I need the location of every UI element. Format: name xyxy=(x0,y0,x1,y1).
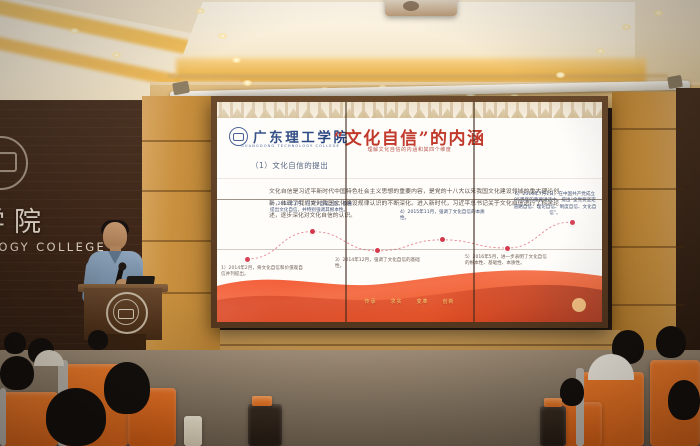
ceiling-downlight xyxy=(596,48,605,54)
lecture-hall-photo: 学院 LOGY COLLEGE 广东理工学院 GUANGDONG TECHNOL… xyxy=(0,0,700,446)
ceiling-downlight xyxy=(70,28,79,34)
wood-panel-seam xyxy=(142,140,220,142)
border-triangle xyxy=(385,107,398,118)
border-triangle xyxy=(413,107,426,118)
wood-wall-right xyxy=(612,92,684,352)
ceiling-downlight xyxy=(218,33,227,39)
timeline-path xyxy=(247,222,572,259)
timeline-point[interactable] xyxy=(375,248,380,253)
wood-panel-seam xyxy=(612,304,684,306)
wood-panel-seam xyxy=(612,246,684,248)
wood-panel-seam xyxy=(612,188,684,190)
border-triangle xyxy=(469,107,482,118)
border-triangle xyxy=(567,107,580,118)
border-triangle xyxy=(371,107,384,118)
border-triangle xyxy=(455,107,468,118)
ceiling-cove-light xyxy=(176,58,646,82)
border-triangle xyxy=(525,107,538,118)
auditorium-seat xyxy=(184,416,202,446)
border-triangle xyxy=(273,107,286,118)
roller-bracket-right xyxy=(667,75,683,89)
border-triangle xyxy=(483,107,496,118)
wood-panel-seam xyxy=(142,190,220,192)
podium-emblem-icon xyxy=(106,292,148,334)
ceiling-downlight xyxy=(622,24,631,30)
slide-divider xyxy=(217,178,602,179)
ceiling-downlight xyxy=(243,80,252,86)
timeline-annotation: 6）2016年7月1日，在中国共产党成立95周年的重要讲话中，提出“全党要坚定道… xyxy=(512,192,598,218)
border-triangle xyxy=(581,107,594,118)
auditorium-seat xyxy=(248,404,282,446)
video-wall-display: 广东理工学院 GUANGDONG TECHNOLOGY COLLEGE “文化自… xyxy=(217,102,602,322)
slide-decorative-border xyxy=(217,102,602,118)
slide-section-heading: （1）文化自信的提出 xyxy=(251,160,328,171)
projector xyxy=(385,0,457,16)
timeline-annotation: 2）2014年3月，在三个自信之后，单独提出文化自信，并特别强调其根本性。 xyxy=(270,202,356,215)
audience-head xyxy=(0,356,34,390)
auditorium-seat xyxy=(540,406,566,446)
border-triangle xyxy=(329,107,342,118)
border-triangle xyxy=(315,107,328,118)
border-triangle xyxy=(301,107,314,118)
border-triangle xyxy=(357,107,370,118)
ceiling-downlight xyxy=(654,10,663,16)
wave-label: 创新 xyxy=(443,298,455,305)
ceiling-downlight xyxy=(556,72,565,78)
audience-head xyxy=(668,380,700,420)
wood-panel-seam xyxy=(612,128,684,130)
audience-head xyxy=(46,388,106,446)
border-triangle xyxy=(511,107,524,118)
border-triangle xyxy=(245,107,258,118)
audience-head xyxy=(4,332,26,354)
slide-footer-wave xyxy=(217,260,602,322)
audience-shoulder xyxy=(0,388,6,446)
border-triangle xyxy=(217,107,230,118)
timeline-point[interactable] xyxy=(440,237,445,242)
border-triangle xyxy=(399,107,412,118)
border-triangle xyxy=(231,107,244,118)
slide-subtitle: 理解文化自信的内涵和其四个维度 xyxy=(217,146,602,153)
ceiling-downlight xyxy=(232,57,241,63)
timeline-point[interactable] xyxy=(505,246,510,251)
video-wall-bezel-v1 xyxy=(345,102,347,322)
audience-head xyxy=(560,378,584,406)
wave-label: 变革 xyxy=(417,298,429,305)
slide-wave-labels: 传承求实变革创新 xyxy=(217,298,602,305)
auditorium-seat xyxy=(544,398,562,407)
video-wall-bezel-h1 xyxy=(217,199,602,201)
wall-college-name-cn: 学院 xyxy=(0,200,50,239)
border-triangle xyxy=(259,107,272,118)
ceiling-downlight xyxy=(196,8,205,14)
wave-label: 传承 xyxy=(364,298,376,305)
slide-border-pattern xyxy=(217,107,602,118)
audience-head xyxy=(88,330,108,350)
video-wall-bezel-v2 xyxy=(473,102,475,322)
wave-label: 求实 xyxy=(390,298,402,305)
border-triangle xyxy=(539,107,552,118)
border-triangle xyxy=(287,107,300,118)
timeline-point[interactable] xyxy=(310,229,315,234)
border-triangle xyxy=(553,107,566,118)
video-wall: 广东理工学院 GUANGDONG TECHNOLOGY COLLEGE “文化自… xyxy=(211,96,608,328)
ceiling-edge xyxy=(168,74,668,78)
wood-panel-seam xyxy=(142,240,220,242)
wood-panel-seam xyxy=(220,344,620,346)
audience-head xyxy=(104,362,150,414)
auditorium-seat xyxy=(252,396,272,406)
timeline-point[interactable] xyxy=(570,220,575,225)
audience-head xyxy=(656,326,686,358)
ceiling-downlight xyxy=(112,52,121,58)
border-triangle xyxy=(595,107,602,118)
border-triangle xyxy=(427,107,440,118)
border-triangle xyxy=(441,107,454,118)
border-triangle xyxy=(497,107,510,118)
presentation-slide: 广东理工学院 GUANGDONG TECHNOLOGY COLLEGE “文化自… xyxy=(217,102,602,322)
